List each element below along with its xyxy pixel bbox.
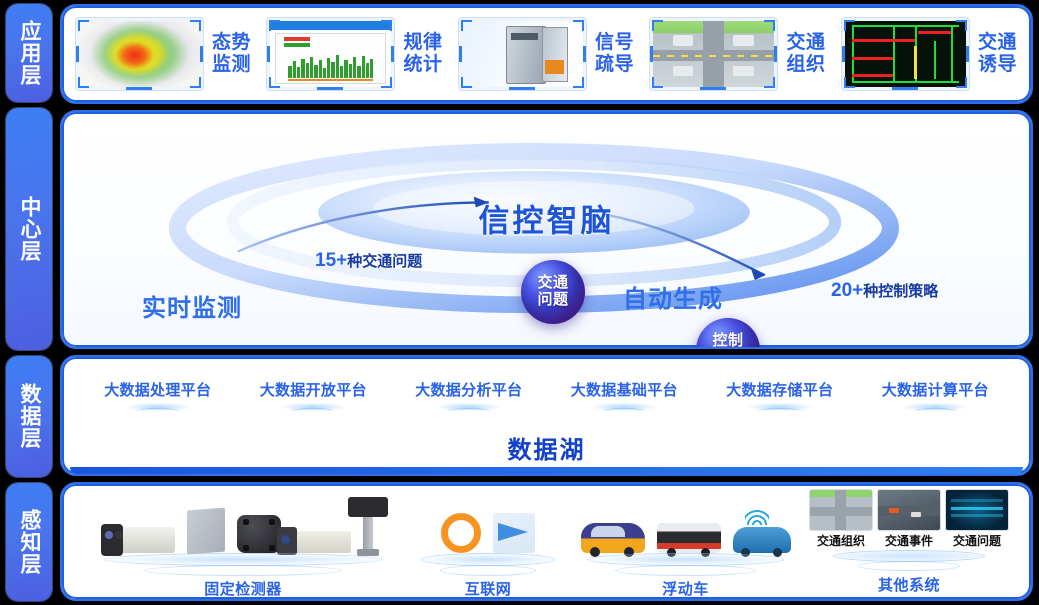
app-item-situation-monitoring[interactable]: 态势 监测 <box>76 18 251 90</box>
disc-icon <box>749 402 811 415</box>
data-platform-analysis[interactable]: 大数据分析平台 <box>415 379 522 415</box>
count-number: 15 <box>315 250 336 271</box>
heatmap-thumbnail <box>76 18 203 90</box>
perception-group-other-systems[interactable]: 交通组织 交通事件 交通问题 其他系统 <box>803 490 1015 599</box>
count-traffic-problems: 15+种交通问题 <box>315 250 422 272</box>
system-card-traffic-organization[interactable]: 交通组织 <box>810 490 872 549</box>
rail-item-perception[interactable]: 感知层 <box>6 483 52 601</box>
center-layer-panel: 信控智脑 交通 问题 出行 规律 控制 策略 效果 评价 实时监测 <box>60 110 1033 349</box>
rail-item-center[interactable]: 中心层 <box>6 108 52 350</box>
pole-camera-icon <box>363 511 373 553</box>
rail-item-application[interactable]: 应用层 <box>6 4 52 102</box>
application-layer-panel: 态势 监测 <box>60 4 1033 104</box>
perception-group-fixed-detectors[interactable]: 固定检测器 <box>78 490 408 599</box>
app-item-label: 交通 组织 <box>786 32 825 75</box>
app-item-label: 规律 统计 <box>403 32 442 75</box>
diagram-root: 应用层 中心层 数据层 感知层 态势 监测 <box>0 0 1039 605</box>
layer-rail: 应用层 中心层 数据层 感知层 <box>0 0 56 605</box>
data-platform-row: 大数据处理平台 大数据开放平台 大数据分析平台 大数据基础平台 大数据存储平台 <box>62 357 1031 415</box>
amap-logo-icon <box>493 513 535 553</box>
system-card-traffic-problem[interactable]: 交通问题 <box>946 490 1008 549</box>
app-item-label: 交通 诱导 <box>978 32 1017 75</box>
perception-group-label: 互联网 <box>465 578 512 599</box>
app-item-signal-guidance[interactable]: 信号 疏导 <box>459 18 634 90</box>
flow-label-auto-generation: 自动生成 <box>623 279 723 314</box>
layer-panels: 态势 监测 <box>56 0 1039 605</box>
disc-icon <box>593 402 655 415</box>
perception-layer-panel: 固定检测器 互联网 浮 <box>60 482 1033 601</box>
data-platform-label: 大数据分析平台 <box>415 379 522 400</box>
closed-loop-diagram: 信控智脑 交通 问题 出行 规律 控制 策略 效果 评价 实时监测 <box>62 112 1031 347</box>
disc-icon <box>282 402 344 415</box>
box-camera-icon <box>293 531 351 553</box>
road-grid-thumbnail <box>842 18 969 90</box>
podium-disc <box>568 553 803 576</box>
node-line-2: 问题 <box>537 292 568 309</box>
data-platform-computing[interactable]: 大数据计算平台 <box>882 379 989 415</box>
perception-group-label: 固定检测器 <box>204 578 282 599</box>
disc-icon <box>438 402 500 415</box>
intersection-thumbnail <box>810 490 872 530</box>
disc-icon <box>904 402 966 415</box>
count-plus: + <box>336 250 347 271</box>
system-thumbnail-row: 交通组织 交通事件 交通问题 <box>810 490 1008 549</box>
node-traffic-problem[interactable]: 交通 问题 <box>521 260 585 324</box>
app-item-pattern-statistics[interactable]: 规律 统计 <box>267 18 442 90</box>
taxi-icon <box>581 523 645 553</box>
bullet-camera-icon <box>113 527 175 553</box>
flow-label-real-time-monitoring: 实时监测 <box>142 288 242 323</box>
data-platform-label: 大数据存储平台 <box>726 379 833 400</box>
data-platform-foundation[interactable]: 大数据基础平台 <box>571 379 678 415</box>
data-platform-label: 大数据处理平台 <box>104 379 211 400</box>
count-plus: + <box>852 280 863 301</box>
podium-disc <box>803 550 1015 572</box>
chart-report-thumbnail <box>267 18 394 90</box>
perception-group-floating-car[interactable]: 浮动车 <box>568 490 803 599</box>
count-text: 种交通问题 <box>347 253 422 270</box>
podium-disc <box>408 553 568 576</box>
count-control-strategies: 20+种控制策略 <box>831 280 938 302</box>
disc-icon <box>127 402 189 415</box>
radar-panel-icon <box>187 508 225 555</box>
data-visualization-thumbnail <box>946 490 1008 530</box>
data-platform-label: 大数据开放平台 <box>260 379 367 400</box>
app-item-label: 信号 疏导 <box>595 32 634 75</box>
data-platform-open[interactable]: 大数据开放平台 <box>260 379 367 415</box>
radar-box-icon <box>237 515 281 553</box>
node-line-1: 交通 <box>537 275 568 292</box>
data-lake-water <box>70 467 1023 474</box>
system-card-label: 交通组织 <box>817 532 865 549</box>
didi-logo-icon <box>441 513 481 553</box>
bus-icon <box>657 523 721 553</box>
system-card-label: 交通问题 <box>953 532 1001 549</box>
data-layer-panel: 大数据处理平台 大数据开放平台 大数据分析平台 大数据基础平台 大数据存储平台 <box>60 355 1033 476</box>
data-platform-label: 大数据基础平台 <box>571 379 678 400</box>
app-item-traffic-induction[interactable]: 交通 诱导 <box>842 18 1017 90</box>
system-card-label: 交通事件 <box>885 532 933 549</box>
device-cluster <box>581 490 791 553</box>
perception-group-label: 浮动车 <box>662 578 709 599</box>
device-cluster <box>441 490 535 553</box>
rail-item-data[interactable]: 数据层 <box>6 356 52 476</box>
count-text: 种控制策略 <box>863 283 938 300</box>
app-item-label: 态势 监测 <box>212 32 251 75</box>
connected-car-icon <box>733 527 791 553</box>
perception-group-label: 其他系统 <box>878 574 940 595</box>
device-cluster <box>113 490 373 553</box>
signal-cabinet-thumbnail <box>459 18 586 90</box>
intersection-thumbnail <box>650 18 777 90</box>
app-item-traffic-organization[interactable]: 交通 组织 <box>650 18 825 90</box>
data-platform-storage[interactable]: 大数据存储平台 <box>726 379 833 415</box>
data-platform-processing[interactable]: 大数据处理平台 <box>104 379 211 415</box>
aerial-road-thumbnail <box>878 490 940 530</box>
count-number: 20 <box>831 280 852 301</box>
brain-title: 信控智脑 <box>479 195 615 240</box>
data-platform-label: 大数据计算平台 <box>882 379 989 400</box>
system-card-traffic-event[interactable]: 交通事件 <box>878 490 940 549</box>
node-line-1: 控制 <box>712 333 743 349</box>
data-lake-title: 数据湖 <box>508 430 586 465</box>
perception-group-internet[interactable]: 互联网 <box>408 490 568 599</box>
podium-disc <box>78 553 408 576</box>
